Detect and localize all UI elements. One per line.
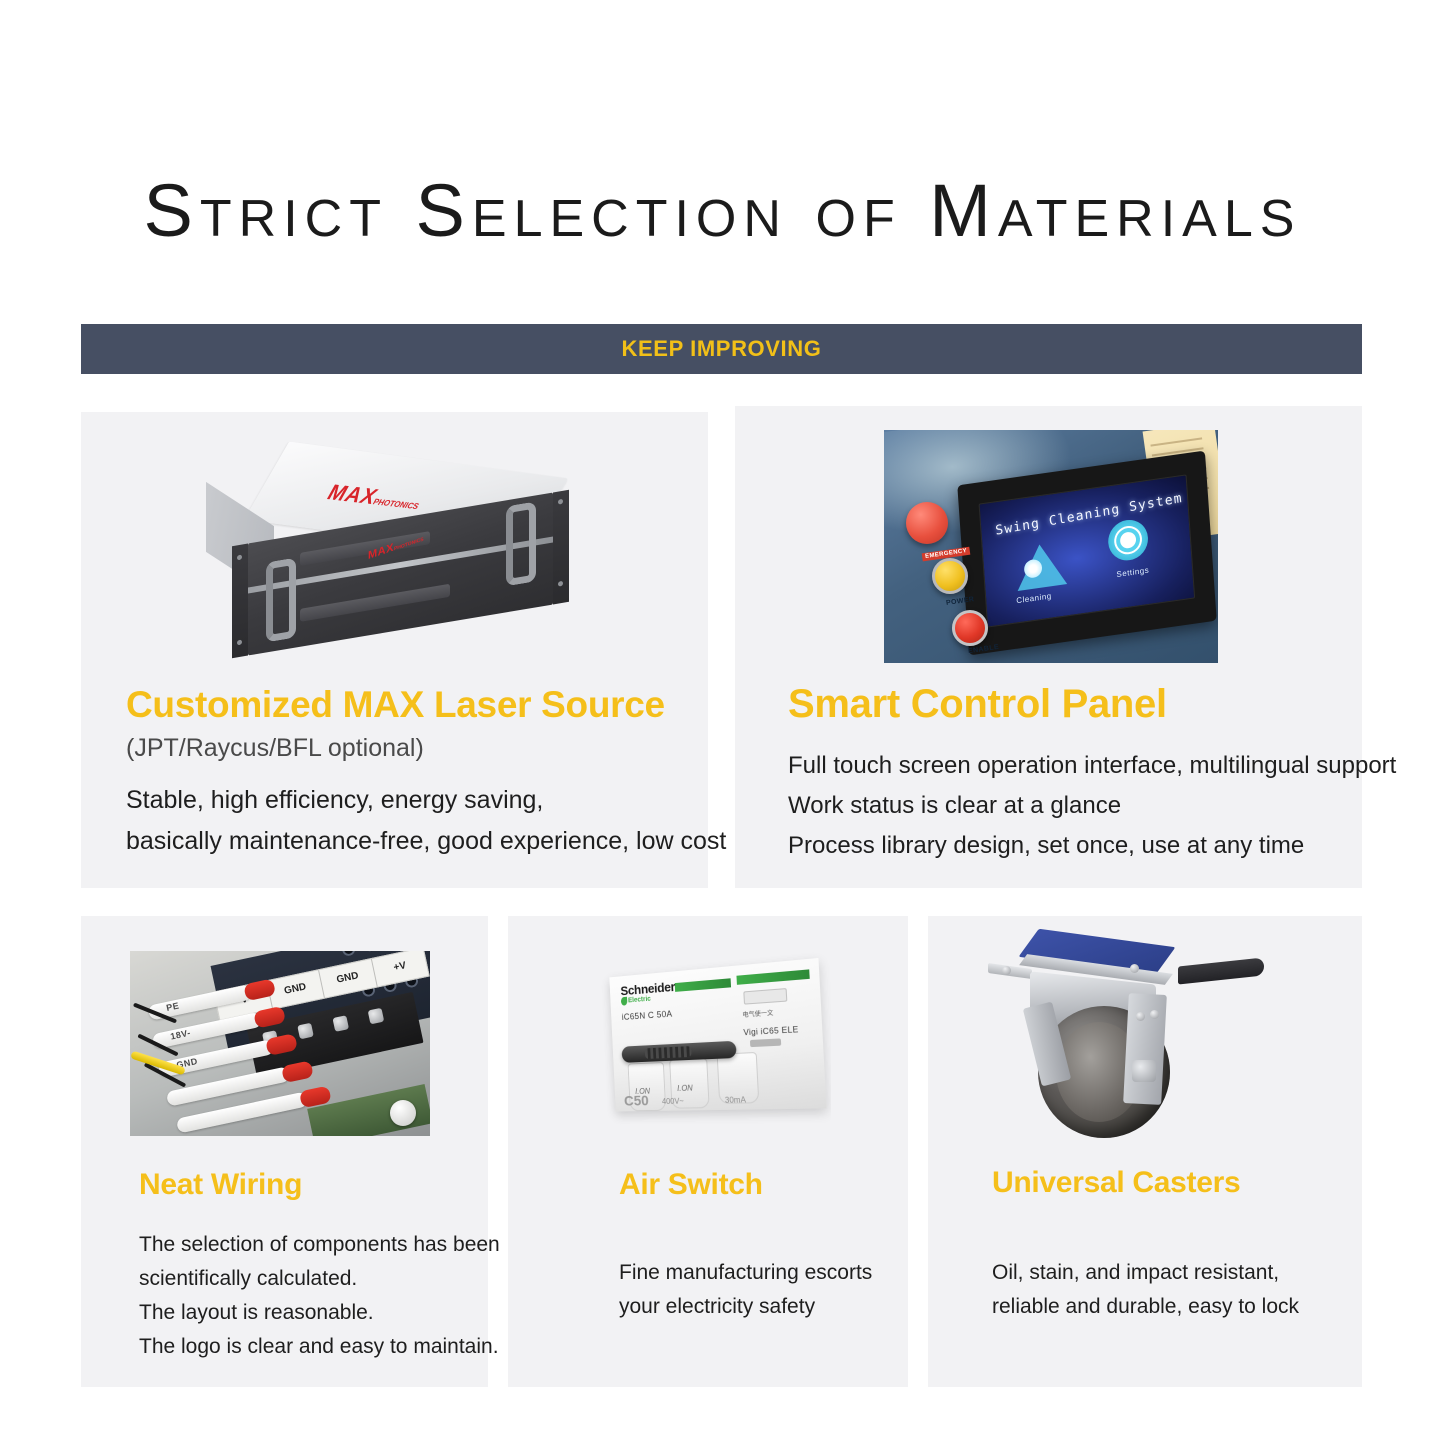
laser-front-logo-sub: PHOTONICS (394, 536, 424, 552)
laser-rack-ear-right (553, 490, 569, 605)
caster-axle-bolt (1132, 1060, 1156, 1082)
vigi-module-label: Vigi iC65 ELE (743, 1025, 799, 1037)
breaker-green-strip (736, 969, 809, 984)
breaker-body: Schneider Electric iC65N C 50A 电气使一文 Vig… (609, 958, 826, 1112)
breaker-toggle-label: I.ON (677, 1084, 693, 1093)
banner-label: KEEP IMPROVING (622, 336, 822, 362)
caster-rivet (1136, 1012, 1145, 1021)
caster-rivet (1002, 966, 1011, 975)
caster-fork-arm-right (1123, 993, 1167, 1105)
keep-improving-banner: KEEP IMPROVING (81, 324, 1362, 374)
body-line: Full touch screen operation interface, m… (788, 746, 1396, 786)
breaker-rating-label: C50 (624, 1093, 649, 1110)
body-line: Stable, high efficiency, energy saving, (126, 780, 726, 821)
card-title-air-switch: Air Switch (619, 1168, 763, 1202)
card-control-panel: Swing Cleaning System Cleaning Settings … (735, 406, 1362, 888)
caster-rivet (1150, 1010, 1159, 1019)
smart-control-panel-photo: Swing Cleaning System Cleaning Settings … (884, 430, 1218, 663)
laser-screw (237, 640, 242, 646)
laser-vent-lower (300, 584, 450, 622)
body-line: The logo is clear and easy to maintain. (139, 1330, 500, 1364)
cleaning-icon-label: Cleaning (1016, 591, 1052, 605)
caster-rivet (1130, 964, 1139, 973)
card-title-universal-casters: Universal Casters (992, 1166, 1240, 1200)
breaker-green-strip (675, 978, 731, 992)
body-line: your electricity safety (619, 1290, 872, 1324)
body-line: The selection of components has been (139, 1228, 500, 1262)
universal-caster-photo (980, 920, 1286, 1155)
body-line: Process library design, set once, use at… (788, 826, 1396, 866)
body-line: basically maintenance-free, good experie… (126, 821, 726, 862)
enable-button[interactable] (952, 610, 988, 646)
potentiometer-knob (390, 1100, 416, 1126)
laser-top-logo-sub: PHOTONICS (371, 497, 421, 511)
card-body-laser-source: Stable, high efficiency, energy saving, … (126, 780, 726, 862)
card-air-switch: Schneider Electric iC65N C 50A 电气使一文 Vig… (508, 916, 908, 1387)
laser-handle-left (266, 557, 296, 642)
body-line: scientifically calculated. (139, 1262, 500, 1296)
laser-handle-right (506, 501, 536, 586)
settings-icon-label: Settings (1116, 566, 1149, 580)
card-neat-wiring: -V GND GND +V PE 18V- GND (81, 916, 488, 1387)
laser-screw (558, 581, 563, 587)
hmi-screen[interactable]: Swing Cleaning System Cleaning Settings (979, 474, 1196, 627)
schneider-air-switch-photo: Schneider Electric iC65N C 50A 电气使一文 Vig… (596, 948, 831, 1133)
schneider-brand-sub-label: Electric (628, 996, 651, 1004)
card-title-laser-source: Customized MAX Laser Source (126, 684, 665, 726)
wire-label: 18V- (169, 1028, 191, 1042)
breaker-voltage-label: 400V~ (662, 1097, 684, 1106)
emergency-stop-button[interactable] (906, 502, 948, 544)
body-line: Fine manufacturing escorts (619, 1256, 872, 1290)
breaker-model-label: iC65N C 50A (622, 1009, 673, 1022)
body-line: reliable and durable, easy to lock (992, 1290, 1299, 1324)
card-body-universal-casters: Oil, stain, and impact resistant, reliab… (992, 1256, 1299, 1324)
breaker-lever-grip (645, 1046, 692, 1059)
card-subtitle-laser-source: (JPT/Raycus/BFL optional) (126, 734, 424, 763)
card-title-control-panel: Smart Control Panel (788, 682, 1167, 727)
breaker-test-button[interactable] (743, 988, 787, 1005)
schneider-logo-icon (621, 997, 628, 1006)
vigi-indicator-bar (750, 1038, 781, 1047)
caster-brake-lever[interactable] (1178, 957, 1264, 984)
wire-label: PE (165, 1001, 180, 1013)
laser-screw (237, 555, 242, 561)
laser-screw (558, 499, 563, 505)
max-laser-source-photo: MAXPHOTONICS MAXPHOTONICS (176, 442, 616, 662)
body-line: Work status is clear at a glance (788, 786, 1396, 826)
neat-wiring-photo: -V GND GND +V PE 18V- GND (130, 951, 430, 1136)
breaker-cn-label: 电气使一文 (742, 1008, 773, 1019)
card-universal-casters: Universal Casters Oil, stain, and impact… (928, 916, 1362, 1387)
power-button[interactable] (932, 558, 968, 594)
hmi-screen-bezel: Swing Cleaning System Cleaning Settings (957, 451, 1216, 656)
card-body-neat-wiring: The selection of components has been sci… (139, 1228, 500, 1364)
body-line: The layout is reasonable. (139, 1296, 500, 1330)
body-line: Oil, stain, and impact resistant, (992, 1256, 1299, 1290)
card-body-control-panel: Full touch screen operation interface, m… (788, 746, 1396, 866)
card-body-air-switch: Fine manufacturing escorts your electric… (619, 1256, 872, 1324)
card-laser-source: MAXPHOTONICS MAXPHOTONICS Customized MAX… (81, 412, 708, 888)
page-title: Strict Selection of Materials (0, 168, 1445, 253)
laser-rack-ear-left (232, 544, 248, 659)
card-title-neat-wiring: Neat Wiring (139, 1168, 302, 1202)
hmi-screen-title: Swing Cleaning System (995, 491, 1184, 539)
breaker-current-label: 30mA (725, 1095, 746, 1105)
